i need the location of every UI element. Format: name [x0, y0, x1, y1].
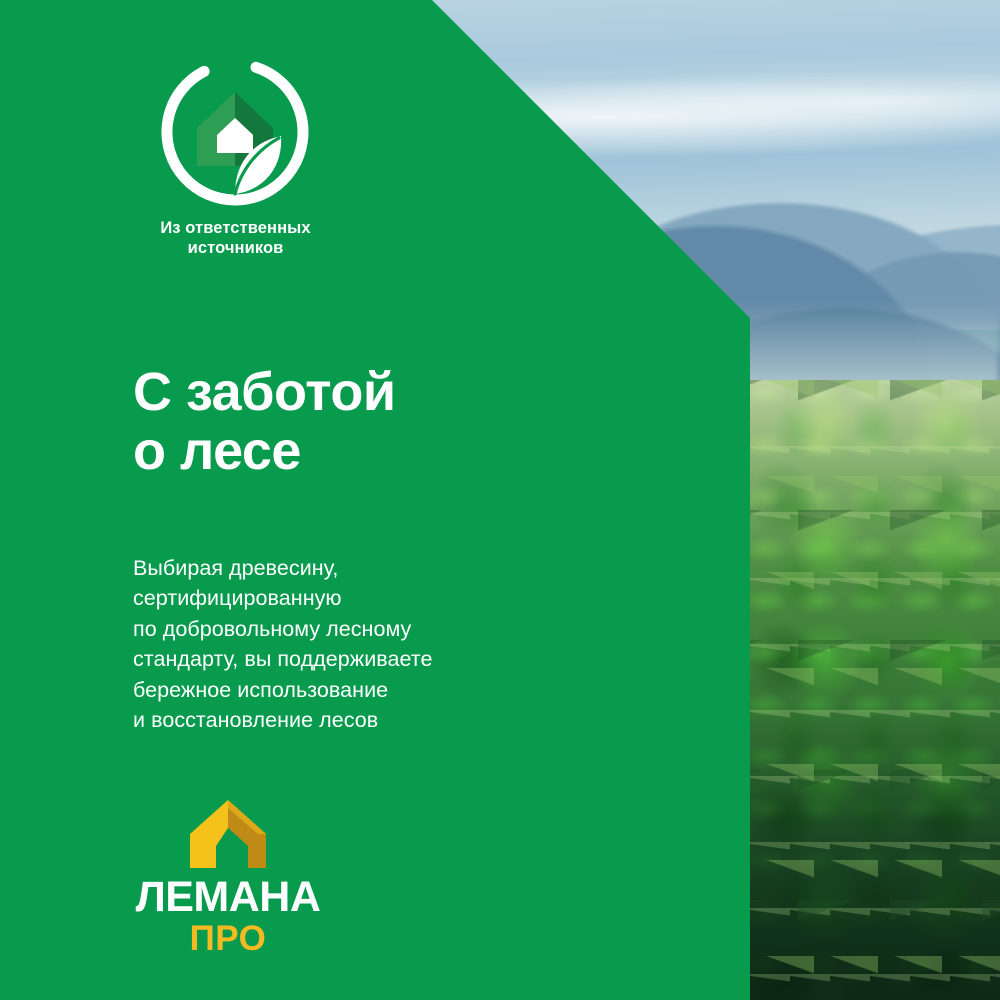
responsible-sources-seal-icon: [161, 58, 309, 206]
badge-caption: Из ответственных источников: [133, 218, 338, 258]
brand-sub: ПРО: [133, 921, 323, 956]
body-line-2: сертифицированную: [133, 583, 432, 614]
page-headline: С заботой о лесе: [133, 363, 396, 481]
body-line-5: бережное использование: [133, 675, 432, 706]
body-line-1: Выбирая древесину,: [133, 553, 432, 584]
badge-caption-line-2: источников: [188, 239, 284, 257]
headline-line-1: С заботой: [133, 363, 396, 422]
body-line-6: и восстановление лесов: [133, 705, 432, 736]
responsible-sources-badge: Из ответственных источников: [133, 58, 433, 258]
brand-lockup: ЛЕМАНА ПРО: [133, 798, 323, 956]
body-line-4: стандарту, вы поддерживаете: [133, 644, 432, 675]
poster-root: Из ответственных источников С заботой о …: [0, 0, 1000, 1000]
body-copy: Выбирая древесину, сертифицированную по …: [133, 553, 432, 736]
brand-name: ЛЕМАНА: [133, 876, 323, 919]
headline-line-2: о лесе: [133, 422, 396, 481]
badge-caption-line-1: Из ответственных: [160, 219, 310, 237]
lemana-house-icon: [186, 798, 270, 870]
body-line-3: по добровольному лесному: [133, 614, 432, 645]
